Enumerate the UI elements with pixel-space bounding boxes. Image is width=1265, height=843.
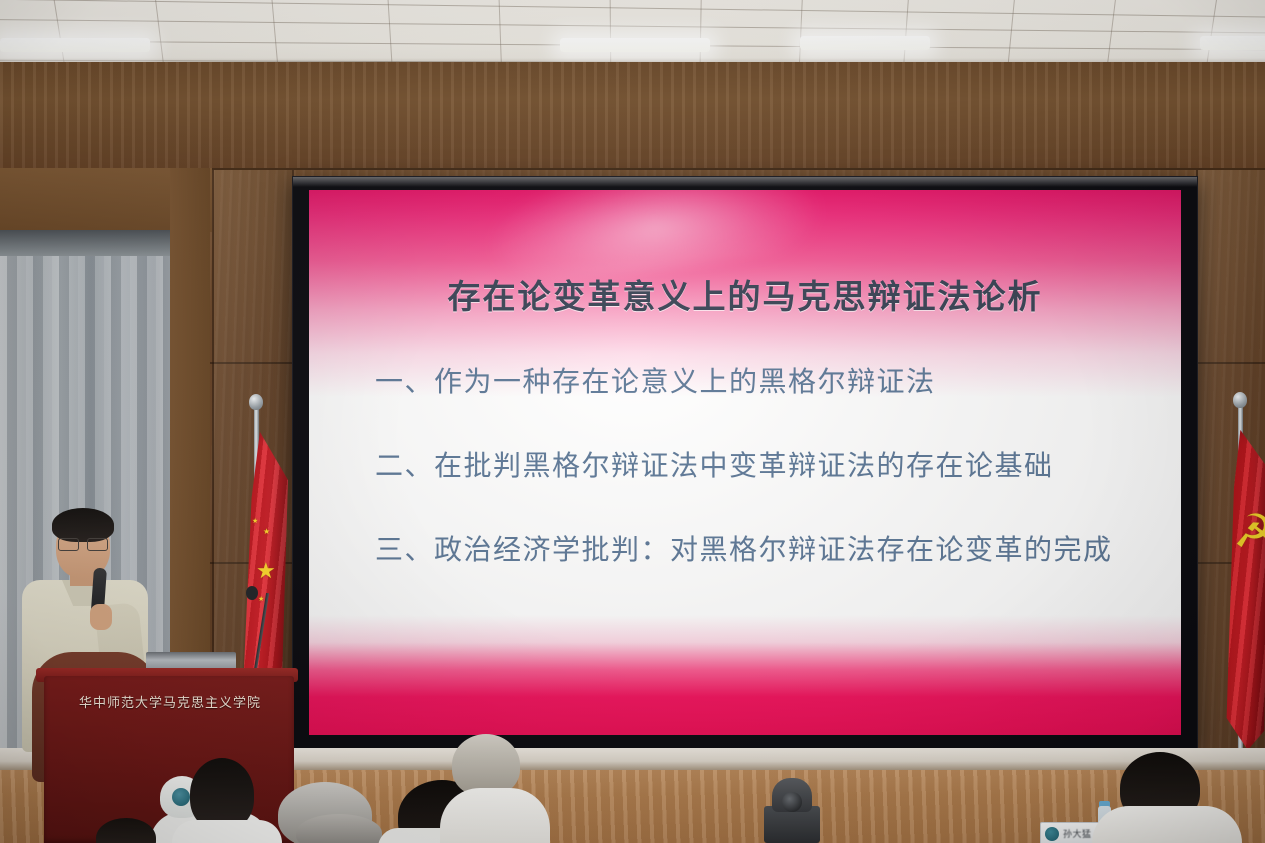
flag-star-large: ★ bbox=[256, 560, 276, 582]
glasses-icon bbox=[58, 538, 108, 549]
lecture-hall-photo: 存在论变革意义上的马克思辩证法论析 一、作为一种存在论意义上的黑格尔辩证法 二、… bbox=[0, 0, 1265, 843]
wall-lintel bbox=[0, 62, 1265, 170]
audience-shoulders-4 bbox=[440, 788, 550, 843]
podium-institution-label: 华中师范大学马克思主义学院 bbox=[52, 692, 288, 711]
camera-lens-icon bbox=[782, 792, 802, 812]
podium-microphone-icon bbox=[246, 586, 258, 600]
presentation-slide: 存在论变革意义上的马克思辩证法论析 一、作为一种存在论意义上的黑格尔辩证法 二、… bbox=[309, 190, 1181, 735]
curtain-rail bbox=[0, 230, 175, 256]
speaker-hair bbox=[52, 508, 114, 542]
placard-name-text: 孙大猛 bbox=[1063, 827, 1092, 840]
university-logo-icon bbox=[1045, 827, 1059, 841]
audience-shoulders-2 bbox=[172, 820, 282, 843]
flagpole-finial-left bbox=[249, 394, 263, 410]
ceiling-light-right bbox=[800, 36, 930, 50]
hammer-sickle-icon: ☭ bbox=[1233, 508, 1265, 554]
projection-screen-bezel: 存在论变革意义上的马克思辩证法论析 一、作为一种存在论意义上的黑格尔辩证法 二、… bbox=[292, 176, 1198, 750]
audience-head-4 bbox=[452, 734, 520, 796]
cap-logo-icon bbox=[172, 788, 190, 806]
ceiling-light-far-right bbox=[1200, 36, 1265, 50]
ceiling-light-center bbox=[560, 38, 710, 52]
flag-star-small-3: ★ bbox=[258, 596, 264, 603]
flagpole-finial-right bbox=[1233, 392, 1247, 408]
ceiling-light-left bbox=[0, 38, 150, 52]
speaker-hand-upper bbox=[90, 604, 112, 630]
flag-star-small-1: ★ bbox=[263, 528, 270, 536]
flag-star-small-2: ★ bbox=[252, 518, 258, 525]
audience-shoulders-5 bbox=[1092, 806, 1242, 843]
